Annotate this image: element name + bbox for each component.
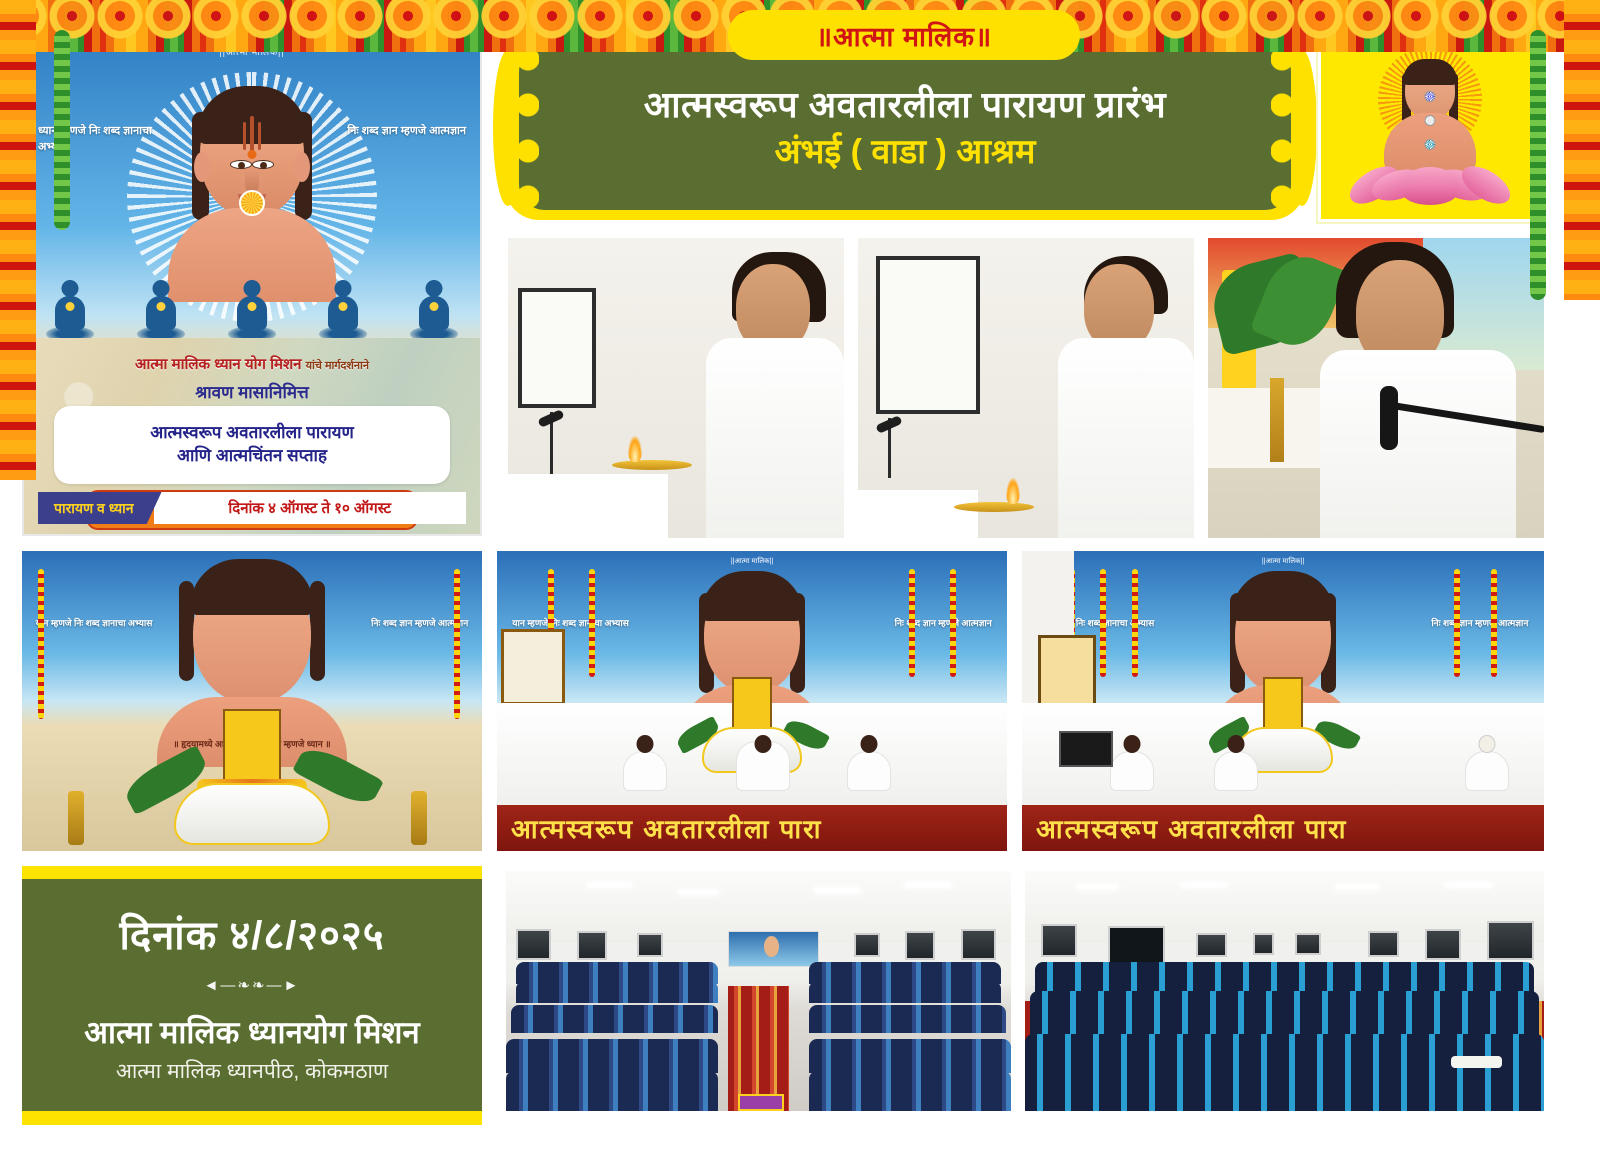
photo-kalash-altar-closeup: यान म्हणजे निः शब्द ज्ञानाचा अभ्यास निः … [22, 551, 482, 851]
header-subtitle: अंभई ( वाडा ) आश्रम [775, 133, 1036, 172]
backdrop-top-caption: ||आत्मा मालिक|| [497, 557, 1007, 566]
marigold-garland-left-border [0, 0, 36, 480]
atma-malik-badge: ॥आत्मा मालिक॥ [728, 10, 1080, 60]
header-scallop-left [517, 36, 539, 220]
meditating-figures-row [24, 274, 480, 346]
poster-quote-right: निः शब्द ज्ञान म्हणजे आत्मज्ञान [336, 124, 466, 140]
ornament-divider: ◄—❧❧—► [137, 975, 367, 995]
poster-bottom-strip: पारायण व ध्यान दिनांक ४ ऑगस्ट ते १० ऑगस्… [38, 492, 466, 524]
green-panel-bottom-bar [22, 1111, 482, 1125]
photo-aarti-elder-man [858, 238, 1194, 538]
organization-address: आत्मा मालिक ध्यानपीठ, कोकमठाण [116, 1057, 388, 1085]
poster-occasion-line: श्रावण मासानिमित्त [24, 380, 480, 403]
green-panel-top-bar [22, 866, 482, 879]
photo-woman-reciting-microphone [1208, 238, 1544, 538]
backdrop-quote-right: निः शब्द ज्ञान म्हणजे आत्मज्ञान [312, 617, 468, 630]
event-poster: ||आत्मा मालिक|| ध्यान म्हणजे निः शब्द ज्… [22, 36, 482, 536]
poster-text-section: आत्मा मालिक ध्यान योग मिशन यांचे मार्गदर… [24, 338, 480, 534]
poster-strip-dates: दिनांक ४ ऑगस्ट ते १० ऑगस्ट [154, 492, 466, 524]
green-leaf-vine-left [54, 30, 70, 230]
photo-aarti-man-white [508, 238, 844, 538]
poster-collage: ||आत्मा मालिक|| ध्यान म्हणजे निः शब्द ज्… [0, 0, 1600, 1165]
chakra-dot-solar-icon [1425, 115, 1436, 126]
green-leaf-vine-right [1530, 30, 1546, 300]
stage-banner-text: आत्मस्वरूप अवतारलीला पारा [497, 805, 1007, 851]
poster-strip-label: पारायण व ध्यान [38, 492, 162, 524]
footer-info-panel: दिनांक ४/८/२०२५ ◄—❧❧—► आत्मा मालिक ध्यान… [22, 879, 482, 1111]
header-scallop-right [1271, 36, 1293, 220]
chakra-dot-heart-icon [1425, 91, 1436, 102]
photo-large-gathering-meditating [1025, 871, 1544, 1111]
poster-event-title-card: आत्मस्वरूप अवतारलीला पारायण आणि आत्मचिंत… [54, 406, 450, 484]
photo-devotees-on-stage-wide: ||आत्मा मालिक|| यान म्हणजे निः शब्द ज्ञा… [1022, 551, 1544, 851]
stage-banner-text: आत्मस्वरूप अवतारलीला पारा [1022, 805, 1544, 851]
backdrop-quote-left: यान म्हणजे निः शब्द ज्ञानाचा अभ्यास [36, 617, 192, 630]
event-date: दिनांक ४/८/२०२५ [119, 906, 384, 961]
chakra-emblem-icon [239, 190, 265, 216]
organization-name: आत्मा मालिक ध्यानयोग मिशन [84, 1011, 419, 1053]
backdrop-top-caption: ||आत्मा मालिक|| [1022, 557, 1544, 566]
photo-devotees-at-altar-stage: ||आत्मा मालिक|| यान म्हणजे निः शब्द ज्ञा… [497, 551, 1007, 851]
atma-malik-lotus-emblem [1318, 32, 1542, 222]
marigold-garland-right-border [1564, 0, 1600, 300]
backdrop-quote-right: निः शब्द ज्ञान म्हणजे आत्मज्ञान [1351, 617, 1528, 630]
backdrop-quote-right: निः शब्द ज्ञान म्हणजे आत्मज्ञान [818, 617, 991, 630]
event-header-banner: आत्मस्वरूप अवतारलीला पारायण प्रारंभ अंभई… [505, 36, 1305, 220]
photo-hall-students-meditating [506, 871, 1011, 1111]
header-title: आत्मस्वरूप अवतारलीला पारायण प्रारंभ [644, 84, 1167, 125]
lotus-icon [1345, 143, 1515, 205]
poster-mission-line: आत्मा मालिक ध्यान योग मिशन यांचे मार्गदर… [24, 354, 480, 374]
